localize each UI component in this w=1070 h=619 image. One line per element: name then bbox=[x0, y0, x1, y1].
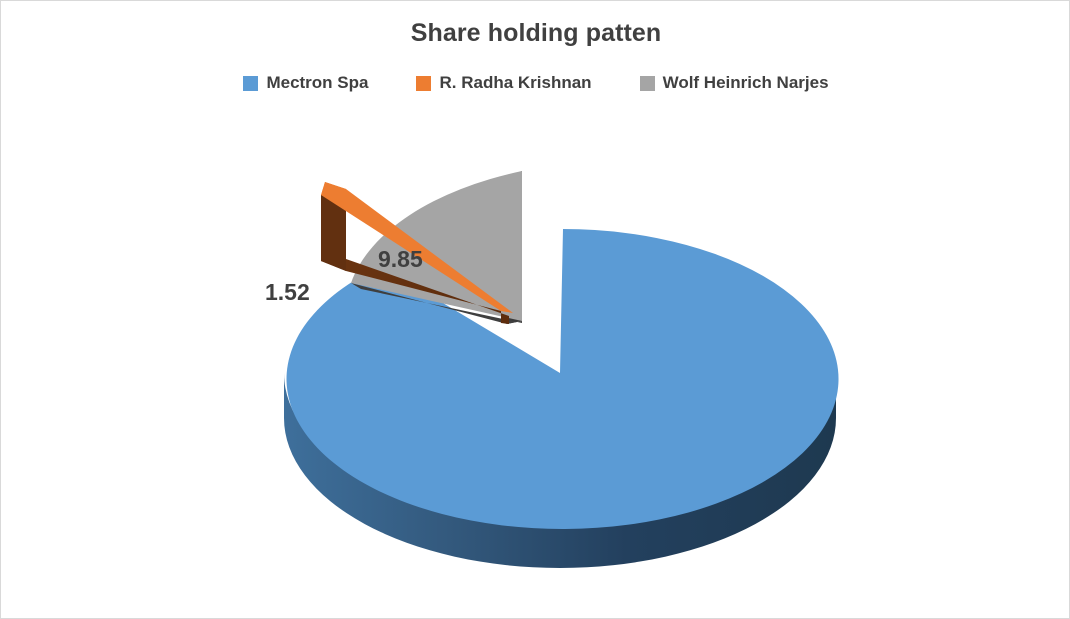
pie-chart-svg bbox=[1, 111, 1070, 611]
chart-container: Share holding patten Mectron Spa R. Radh… bbox=[0, 0, 1070, 619]
chart-title: Share holding patten bbox=[1, 19, 1070, 48]
legend-swatch-mectron-spa bbox=[243, 76, 258, 91]
legend-label-mectron-spa: Mectron Spa bbox=[266, 73, 368, 93]
legend-item-wolf-heinrich-narjes[interactable]: Wolf Heinrich Narjes bbox=[640, 73, 829, 93]
legend-swatch-wolf-heinrich-narjes bbox=[640, 76, 655, 91]
chart-legend: Mectron Spa R. Radha Krishnan Wolf Heinr… bbox=[1, 73, 1070, 93]
legend-item-r-radha-krishnan[interactable]: R. Radha Krishnan bbox=[416, 73, 591, 93]
legend-item-mectron-spa[interactable]: Mectron Spa bbox=[243, 73, 368, 93]
pie-plot-area: 88.63 1.52 9.85 bbox=[1, 111, 1070, 611]
legend-label-wolf-heinrich-narjes: Wolf Heinrich Narjes bbox=[663, 73, 829, 93]
legend-label-r-radha-krishnan: R. Radha Krishnan bbox=[439, 73, 591, 93]
data-label-r-radha-krishnan: 1.52 bbox=[265, 279, 310, 306]
legend-swatch-r-radha-krishnan bbox=[416, 76, 431, 91]
data-label-wolf-heinrich-narjes: 9.85 bbox=[378, 246, 423, 273]
